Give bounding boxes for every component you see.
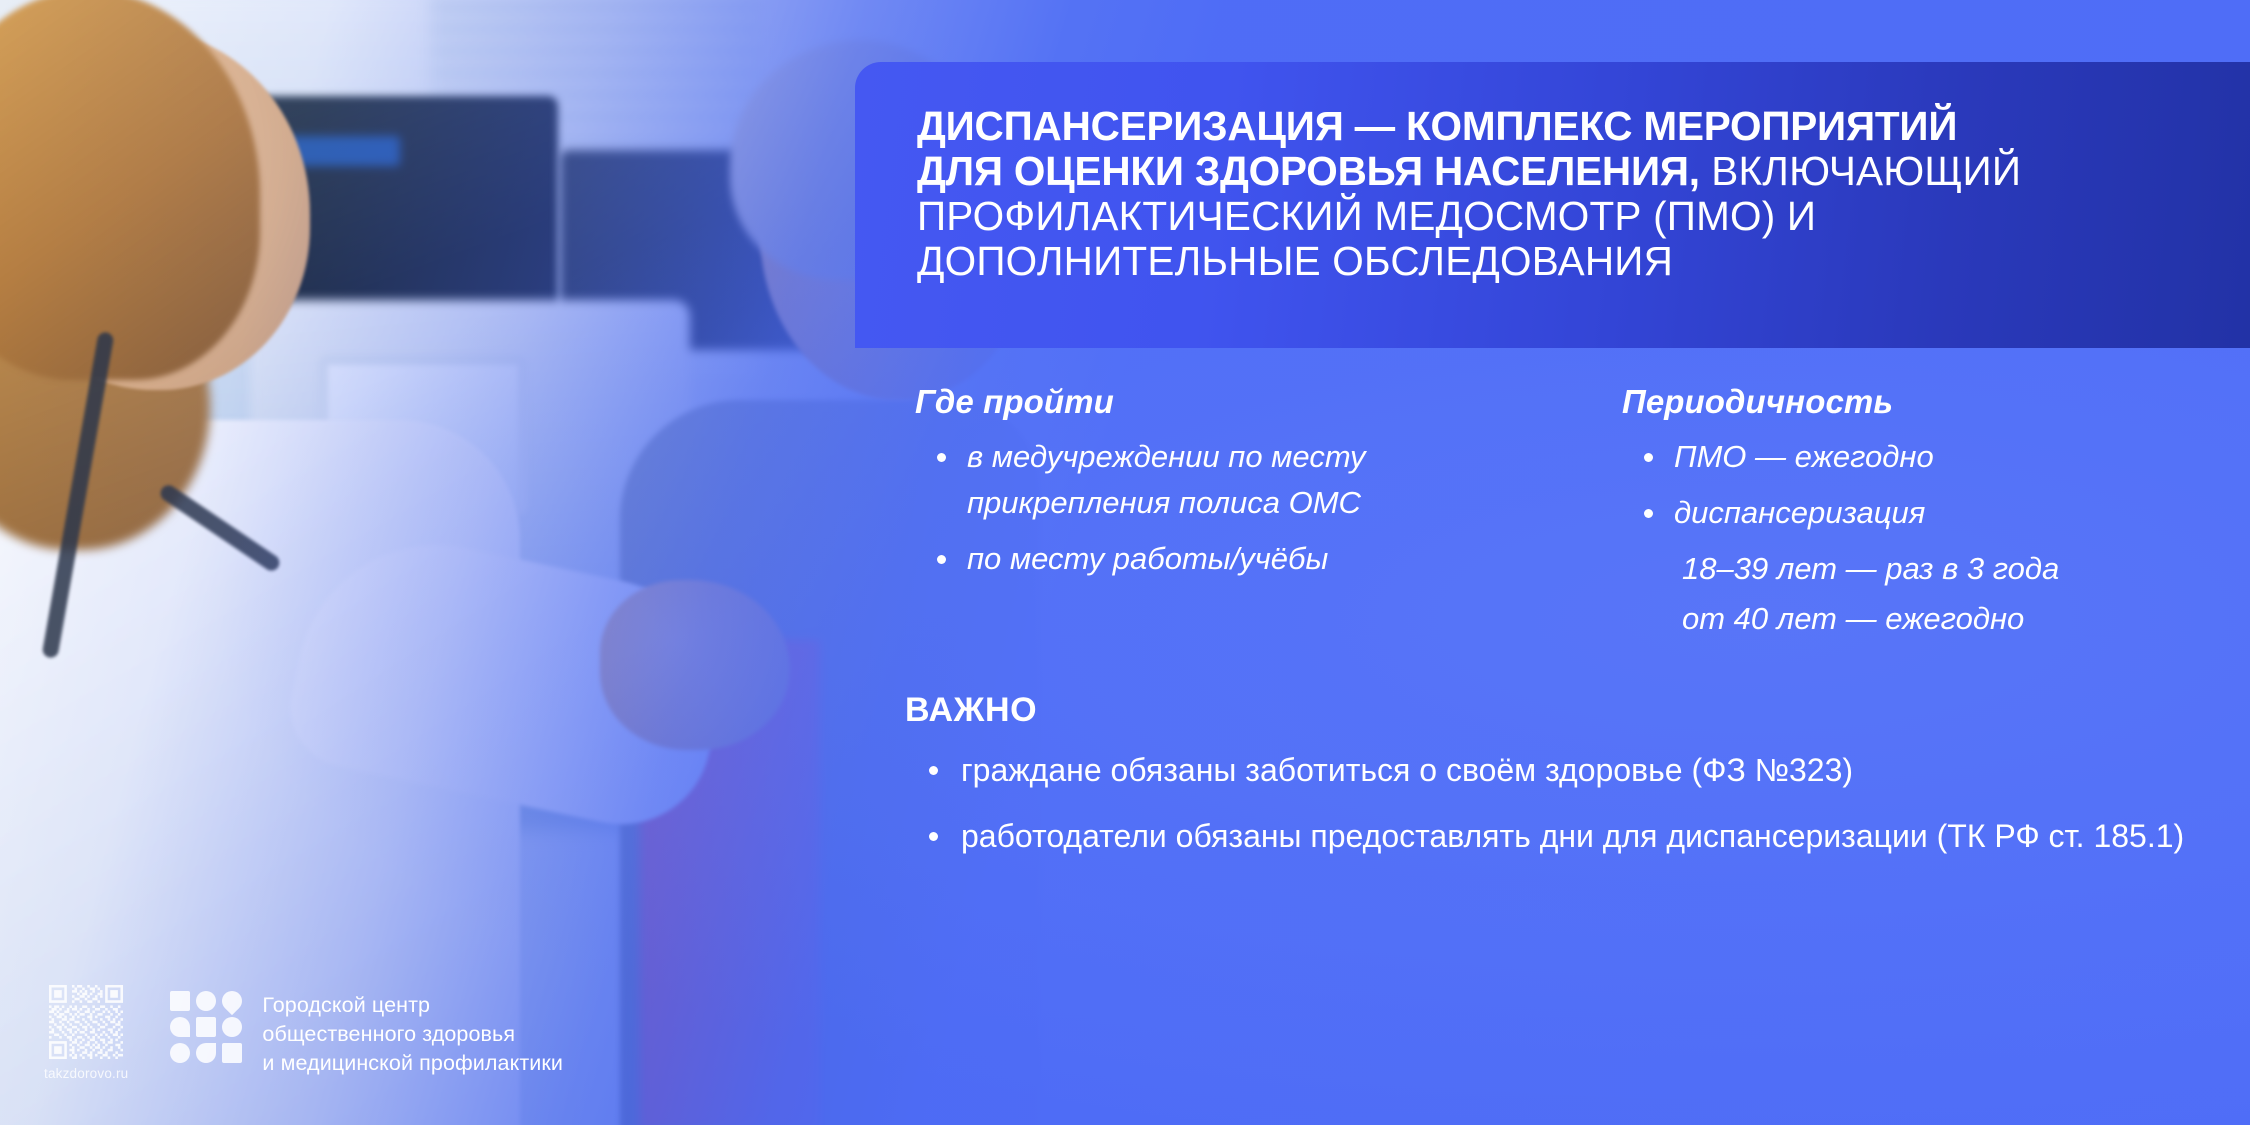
logo-shape-circle-3 <box>170 1043 190 1063</box>
organisation-name: Городской центр общественного здоровья и… <box>262 991 563 1078</box>
header-banner: ДИСПАНСЕРИЗАЦИЯ — КОМПЛЕКС МЕРОПРИЯТИЙ Д… <box>855 62 2250 348</box>
list-item: работодатели обязаны предоставлять дни д… <box>905 810 2185 862</box>
logo-shape-heart-1 <box>218 987 246 1015</box>
logo-shape-heart-3 <box>196 1043 216 1063</box>
where-item-1: по месту работы/учёбы <box>967 541 1328 576</box>
list-item: граждане обязаны заботиться о своём здор… <box>905 744 2185 796</box>
important-item-1: работодатели обязаны предоставлять дни д… <box>961 818 2184 854</box>
frequency-subline-1: 18–39 лет — раз в 3 года <box>1622 546 2222 592</box>
logo-shape-circle-2 <box>222 1017 242 1037</box>
org-line-1: Городской центр <box>262 991 563 1020</box>
bullet-icon <box>1644 453 1653 462</box>
list-item: диспансеризация <box>1622 490 2222 536</box>
org-line-3: и медицинской профилактики <box>262 1049 563 1078</box>
bullet-icon <box>1644 509 1653 518</box>
list-item: по месту работы/учёбы <box>915 536 1535 582</box>
list-item: ПМО — ежегодно <box>1622 434 2222 480</box>
title-line-2-strong: ДЛЯ ОЦЕНКИ ЗДОРОВЬЯ НАСЕЛЕНИЯ, <box>917 148 1700 194</box>
important-list: граждане обязаны заботиться о своём здор… <box>905 744 2185 862</box>
frequency-title: Периодичность <box>1622 382 2222 422</box>
logo-shape-circle-1 <box>196 991 216 1011</box>
title-line-4: ДОПОЛНИТЕЛЬНЫЕ ОБСЛЕДОВАНИЯ <box>917 238 1673 284</box>
bullet-icon <box>929 766 938 775</box>
bullet-icon <box>937 555 946 564</box>
where-title: Где пройти <box>915 382 1535 422</box>
page-title: ДИСПАНСЕРИЗАЦИЯ — КОМПЛЕКС МЕРОПРИЯТИЙ Д… <box>917 104 2204 284</box>
frequency-section: Периодичность ПМО — ежегодно диспансериз… <box>1622 382 2222 642</box>
where-list: в медучреждении по месту прикрепления по… <box>915 434 1535 582</box>
organisation-logo: Городской центр общественного здоровья и… <box>170 991 563 1078</box>
logo-grid-icon <box>170 991 242 1063</box>
important-item-0: граждане обязаны заботиться о своём здор… <box>961 752 1853 788</box>
title-line-2-rest: ВКЛЮЧАЮЩИЙ <box>1700 148 2021 194</box>
qr-block[interactable]: takzdorovo.ru <box>44 985 128 1081</box>
poster: ДИСПАНСЕРИЗАЦИЯ — КОМПЛЕКС МЕРОПРИЯТИЙ Д… <box>0 0 2250 1125</box>
frequency-list: ПМО — ежегодно диспансеризация <box>1622 434 2222 536</box>
where-section: Где пройти в медучреждении по месту прик… <box>915 382 1535 592</box>
important-section: ВАЖНО граждане обязаны заботиться о своё… <box>905 690 2185 876</box>
title-line-3: ПРОФИЛАКТИЧЕСКИЙ МЕДОСМОТР (ПМО) И <box>917 193 1816 239</box>
bullet-icon <box>937 453 946 462</box>
logo-shape-square-3 <box>222 1043 242 1063</box>
org-line-2: общественного здоровья <box>262 1020 563 1049</box>
title-line-1: ДИСПАНСЕРИЗАЦИЯ — КОМПЛЕКС МЕРОПРИЯТИЙ <box>917 103 1957 149</box>
footer-branding: takzdorovo.ru Городской центр общественн… <box>44 985 563 1081</box>
frequency-item-0: ПМО — ежегодно <box>1674 439 1934 474</box>
important-title: ВАЖНО <box>905 690 2185 730</box>
logo-shape-square-1 <box>170 991 190 1011</box>
logo-shape-square-2 <box>196 1017 216 1037</box>
frequency-item-1: диспансеризация <box>1674 495 1925 530</box>
qr-url-label: takzdorovo.ru <box>44 1066 128 1081</box>
qr-code-icon[interactable] <box>49 985 123 1059</box>
where-item-0: в медучреждении по месту прикрепления по… <box>967 439 1365 520</box>
list-item: в медучреждении по месту прикрепления по… <box>915 434 1535 526</box>
content-area: Где пройти в медучреждении по месту прик… <box>0 360 2250 980</box>
logo-shape-heart-2 <box>170 1017 190 1037</box>
frequency-subline-2: от 40 лет — ежегодно <box>1622 596 2222 642</box>
bullet-icon <box>929 832 938 841</box>
